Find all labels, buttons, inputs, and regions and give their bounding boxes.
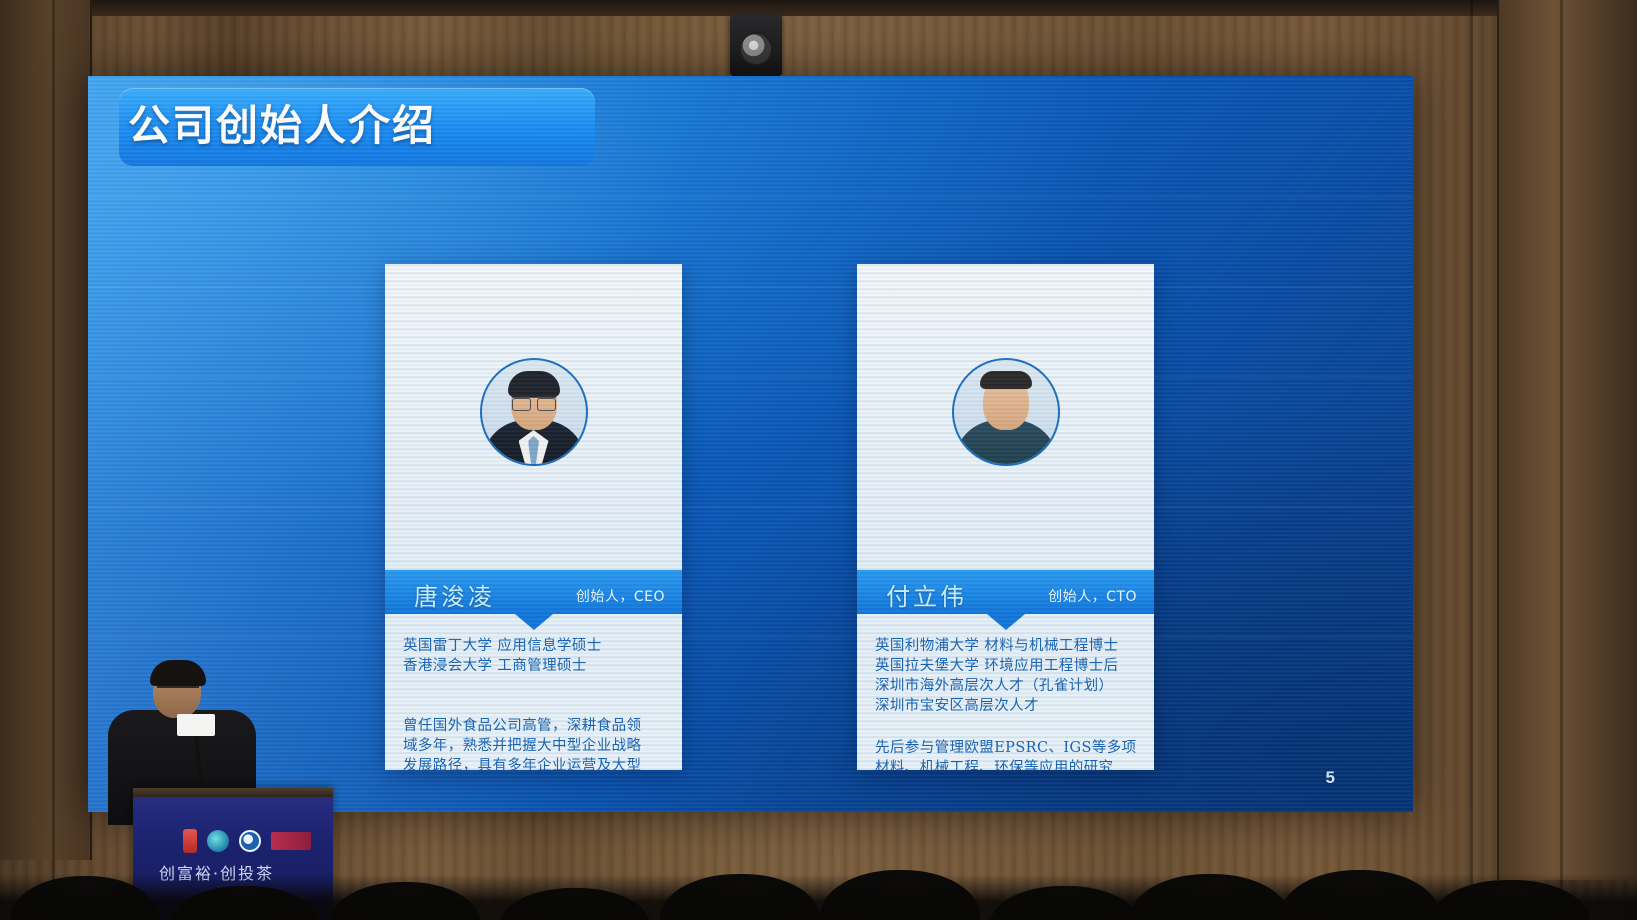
founder-name: 付立伟 [886, 577, 967, 612]
founder-name: 唐浚凌 [414, 577, 495, 612]
camera-lens-icon [739, 32, 773, 66]
founder-card-cto: 付立伟 创始人，CTO 英国利物浦大学 材料与机械工程博士 英国拉夫堡大学 环境… [857, 264, 1154, 770]
glasses-icon [512, 396, 556, 407]
banner-notch-icon [515, 614, 553, 630]
avatar [480, 358, 588, 466]
wall-seam [1560, 0, 1563, 900]
microphone-flag [177, 714, 215, 736]
founder-education: 英国雷丁大学 应用信息学硕士 香港浸会大学 工商管理硕士 [403, 636, 670, 676]
founder-education: 英国利物浦大学 材料与机械工程博士 英国拉夫堡大学 环境应用工程博士后 深圳市海… [875, 636, 1142, 716]
speaker-hair [150, 660, 206, 686]
presentation-slide: 公司创始人介绍 唐浚凌 创始人，CEO 英国雷丁大学 应用信息学硕士 [88, 76, 1413, 812]
founder-role: 创始人，CEO [576, 586, 665, 606]
founder-role: 创始人，CTO [1048, 586, 1137, 606]
projection-screen: 公司创始人介绍 唐浚凌 创始人，CEO 英国雷丁大学 应用信息学硕士 [88, 76, 1413, 812]
avatar [952, 358, 1060, 466]
wall-panel-right [1497, 0, 1637, 880]
wall-seam [52, 0, 55, 900]
page-title: 公司创始人介绍 [128, 92, 436, 153]
founder-bio: 曾任国外食品公司高管，深耕食品领 域多年，熟悉并把握大中型企业战略 发展路径，具… [403, 716, 670, 770]
slide-page-number: 5 [1326, 768, 1335, 788]
founder-bio: 先后参与管理欧盟EPSRC、IGS等多项 材料、机械工程、环保等应用的研究 项目… [875, 738, 1142, 770]
card-texture-lines [385, 264, 682, 770]
speaker-glasses-icon [157, 686, 199, 696]
floor-shadow [0, 874, 1637, 920]
ceiling-strip [0, 0, 1637, 16]
banner-notch-icon [987, 614, 1025, 630]
wall-seam [1470, 0, 1473, 900]
auditorium-scene: 公司创始人介绍 唐浚凌 创始人，CEO 英国雷丁大学 应用信息学硕士 [0, 0, 1637, 920]
audience-silhouettes [0, 810, 1637, 920]
wall-panel-left [0, 0, 92, 860]
podium-top-edge [133, 788, 333, 797]
founder-card-ceo: 唐浚凌 创始人，CEO 英国雷丁大学 应用信息学硕士 香港浸会大学 工商管理硕士… [385, 264, 682, 770]
founder-name-banner: 付立伟 创始人，CTO [857, 570, 1154, 614]
founder-name-banner: 唐浚凌 创始人，CEO [385, 570, 682, 614]
